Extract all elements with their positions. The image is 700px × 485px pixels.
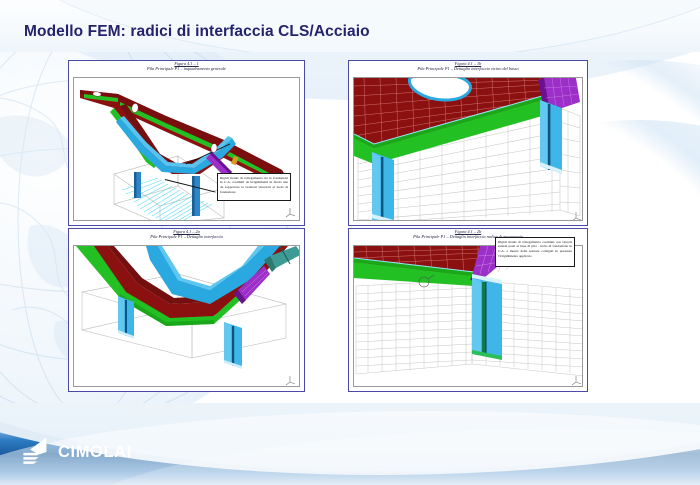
figure-caption-number: Figura 4.1 – 1b xyxy=(351,62,584,67)
pier-column-right xyxy=(224,322,242,369)
fem-mesh-closeup-graphic xyxy=(354,78,583,221)
pier-column-right xyxy=(540,100,562,174)
fem-interface-detail-graphic xyxy=(74,246,300,387)
fem-anchor-root-detail-graphic xyxy=(354,246,583,387)
cimolai-logo-text: CIMOLAI xyxy=(58,443,132,462)
figure-canvas-top-right xyxy=(353,77,583,221)
pier-column-left xyxy=(134,172,141,198)
figure-caption-number: Figura 4.1 – 2a xyxy=(71,230,301,235)
annotation-note-bottom-right: Rigidi tiranti di collegamento costituit… xyxy=(495,237,575,267)
pier-column-right xyxy=(192,176,200,216)
slide-footer: CIMOLAI xyxy=(0,403,700,485)
figure-canvas-bottom-left xyxy=(73,245,300,387)
figure-caption-number: Figura 4.1 – 2b xyxy=(351,230,584,235)
figure-panel-top-left[interactable]: Figura 4.1 – 1 Pila Principale P1 – inqu… xyxy=(68,60,305,226)
foundation-grid-wall xyxy=(356,280,583,376)
page-title: Modello FEM: radici di interfaccia CLS/A… xyxy=(24,23,370,41)
figure-caption-top-right: Figura 4.1 – 1b Pila Principale P1 – Det… xyxy=(349,62,587,71)
figure-caption-subtitle: Pila Principale P1 – Dettaglio interfacc… xyxy=(69,235,304,240)
axis-triad-icon xyxy=(572,376,581,385)
figure-caption-top-left: Figura 4.1 – 1 Pila Principale P1 – inqu… xyxy=(69,62,304,71)
figure-caption-subtitle: Pila Principale P1 – Dettaglio interfacc… xyxy=(349,67,587,72)
pier-column-left xyxy=(372,152,394,221)
cimolai-chevron-icon xyxy=(20,435,54,469)
figure-caption-number: Figura 4.1 – 1 xyxy=(71,62,301,67)
cimolai-logo[interactable]: CIMOLAI xyxy=(20,435,132,469)
pier-column-left xyxy=(118,296,134,339)
figure-panel-top-right[interactable]: Figura 4.1 – 1b Pila Principale P1 – Det… xyxy=(348,60,588,226)
annotation-note-top-left: Rigidi tiranti di collegamento tra le fo… xyxy=(217,173,291,201)
axis-triad-icon xyxy=(286,208,295,217)
axis-triad-icon xyxy=(572,212,581,221)
figure-panel-bottom-left[interactable]: Figura 4.1 – 2a Pila Principale P1 – Det… xyxy=(68,228,305,392)
figure-caption-bottom-left: Figura 4.1 – 2a Pila Principale P1 – Det… xyxy=(69,230,304,239)
figure-panel-bottom-right[interactable]: Figura 4.1 – 2b Pila Principale P1 – Det… xyxy=(348,228,588,392)
pier-column-center xyxy=(472,274,502,360)
figure-caption-subtitle: Pila Principale P1 – inquadramento gener… xyxy=(69,67,304,72)
axis-triad-icon xyxy=(286,376,295,385)
